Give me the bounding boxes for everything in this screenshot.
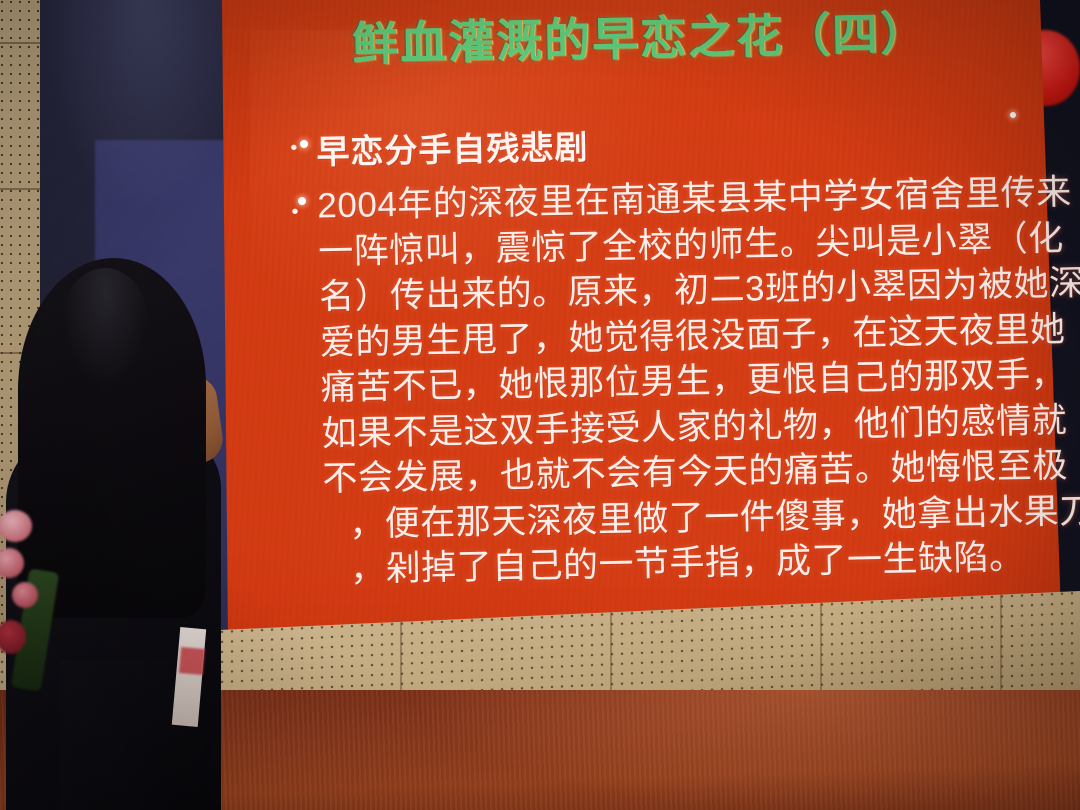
flower-arrangement	[0, 508, 70, 698]
flower-icon	[12, 582, 38, 608]
bullet-item-heading: • 早恋分手自残悲剧	[290, 112, 1031, 174]
bullet-paragraph-text: 2004年的深夜里在南通某县某中学女宿舍里传来 一阵惊叫，震惊了全校的师生。尖叫…	[317, 169, 1080, 593]
screenshot-stage: 鲜血灌溉的早恋之花（四） • 早恋分手自残悲剧 • 2004年的深夜里在南通某县…	[0, 0, 1080, 810]
flower-icon	[0, 510, 32, 542]
presenter-notes-accent	[179, 647, 205, 675]
slide-body: • 早恋分手自残悲剧 • 2004年的深夜里在南通某县某中学女宿舍里传来 一阵惊…	[290, 112, 1038, 593]
presenter	[0, 0, 300, 810]
flower-icon	[0, 548, 24, 578]
slide-title: 鲜血灌溉的早恋之花（四）	[352, 8, 993, 69]
hair-highlight	[60, 268, 150, 388]
bullet-heading-text: 早恋分手自残悲剧	[316, 121, 589, 174]
bullet-item-paragraph: • 2004年的深夜里在南通某县某中学女宿舍里传来 一阵惊叫，震惊了全校的师生。…	[291, 170, 1038, 593]
